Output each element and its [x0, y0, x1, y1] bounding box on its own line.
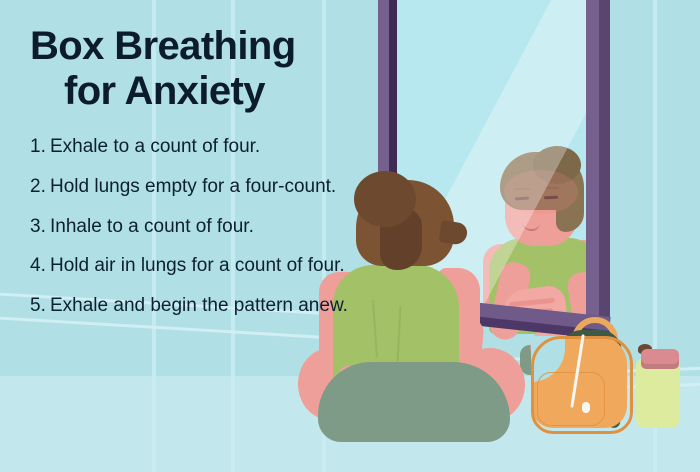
mirror-frame-right-inner: [599, 0, 610, 330]
bottle-cap-upper: [641, 349, 679, 364]
list-item-number: 5.: [30, 295, 50, 318]
backpack-zipper-pull: [582, 402, 590, 413]
list-item-number: 4.: [30, 255, 50, 278]
list-item-text: Exhale and begin the pattern anew.: [50, 295, 350, 318]
list-item-text: Hold air in lungs for a count of four.: [50, 255, 350, 278]
list-item: 4. Hold air in lungs for a count of four…: [30, 255, 350, 278]
title-line-1: Box Breathing: [30, 24, 296, 68]
list-item-number: 1.: [30, 136, 50, 159]
page-title: Box Breathing for Anxiety: [30, 24, 360, 114]
list-item: 5. Exhale and begin the pattern anew.: [30, 295, 350, 318]
woman-hair-bun: [354, 171, 416, 227]
list-item-number: 2.: [30, 176, 50, 199]
title-line-2: for Anxiety: [30, 69, 360, 114]
list-item-number: 3.: [30, 216, 50, 239]
list-item-text: Hold lungs empty for a four-count.: [50, 176, 350, 199]
list-item-text: Inhale to a count of four.: [50, 216, 350, 239]
list-item: 3. Inhale to a count of four.: [30, 216, 350, 239]
steps-list: 1. Exhale to a count of four. 2. Hold lu…: [30, 136, 350, 335]
list-item-text: Exhale to a count of four.: [50, 136, 350, 159]
infographic-canvas: Box Breathing for Anxiety 1. Exhale to a…: [0, 0, 700, 472]
woman-shorts: [318, 362, 510, 442]
list-item: 2. Hold lungs empty for a four-count.: [30, 176, 350, 199]
list-item: 1. Exhale to a count of four.: [30, 136, 350, 159]
